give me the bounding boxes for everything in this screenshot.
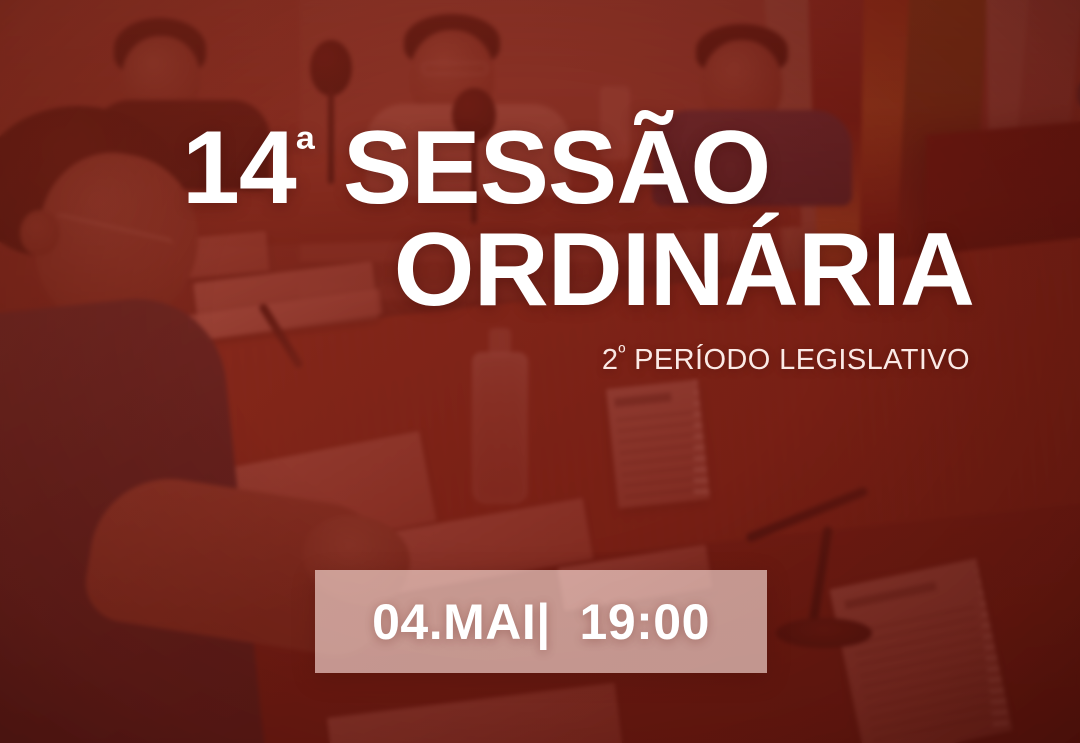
poster-subtitle: 2º PERÍODO LEGISLATIVO [176, 344, 970, 377]
poster-headline: 14ª SESSÃO ORDINÁRIA [176, 118, 976, 322]
poster-content: 14ª SESSÃO ORDINÁRIA 2º PERÍODO LEGISLAT… [0, 0, 1080, 743]
headline-word-sessao: SESSÃO [315, 110, 770, 226]
date-time-text: 04.MAI| 19:00 [372, 593, 710, 651]
session-number: 14 [182, 110, 296, 226]
period-number: 2 [602, 344, 619, 376]
headline-line-2: ORDINÁRIA [176, 220, 976, 322]
session-announcement-poster: 14ª SESSÃO ORDINÁRIA 2º PERÍODO LEGISLAT… [0, 0, 1080, 743]
subtitle-text: PERÍODO LEGISLATIVO [626, 344, 970, 376]
ordinal-suffix: º [618, 342, 625, 363]
ordinal-suffix: ª [296, 121, 315, 179]
date-time-banner: 04.MAI| 19:00 [315, 570, 767, 673]
headline-line-1: 14ª SESSÃO [176, 118, 976, 220]
